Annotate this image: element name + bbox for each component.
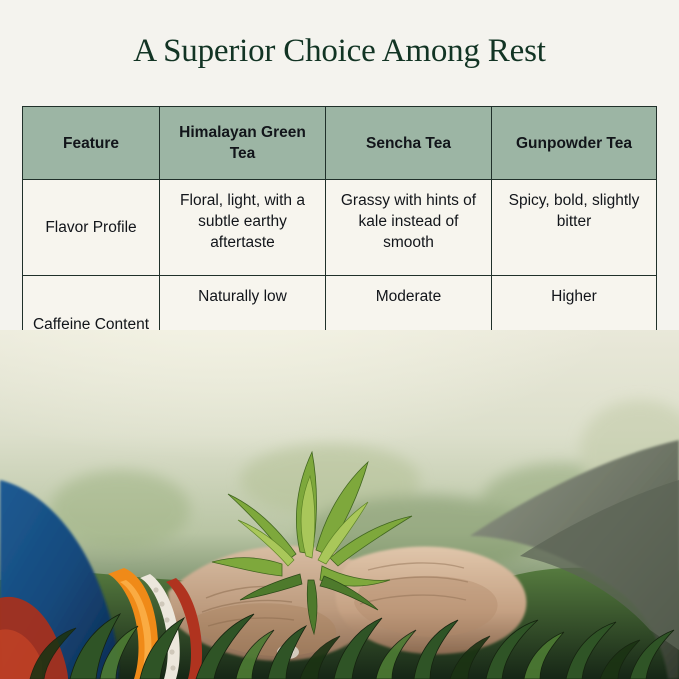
column-header-gunpowder: Gunpowder Tea	[492, 107, 657, 180]
infographic-page: A Superior Choice Among Rest Feature Him…	[0, 0, 679, 679]
column-header-sencha: Sencha Tea	[326, 107, 492, 180]
photo-illustration	[0, 330, 679, 679]
page-title: A Superior Choice Among Rest	[0, 30, 679, 72]
table-row: Flavor Profile Floral, light, with a sub…	[23, 180, 657, 276]
column-header-himalayan: Himalayan Green Tea	[160, 107, 326, 180]
comparison-table-container: Feature Himalayan Green Tea Sencha Tea G…	[22, 106, 656, 323]
table-header-row: Feature Himalayan Green Tea Sencha Tea G…	[23, 107, 657, 180]
column-header-feature: Feature	[23, 107, 160, 180]
tea-harvest-photo	[0, 330, 679, 679]
row-label-flavor-profile: Flavor Profile	[23, 180, 160, 276]
cell-flavor-himalayan: Floral, light, with a subtle earthy afte…	[160, 180, 326, 276]
cell-flavor-sencha: Grassy with hints of kale instead of smo…	[326, 180, 492, 276]
cell-flavor-gunpowder: Spicy, bold, slightly bitter	[492, 180, 657, 276]
